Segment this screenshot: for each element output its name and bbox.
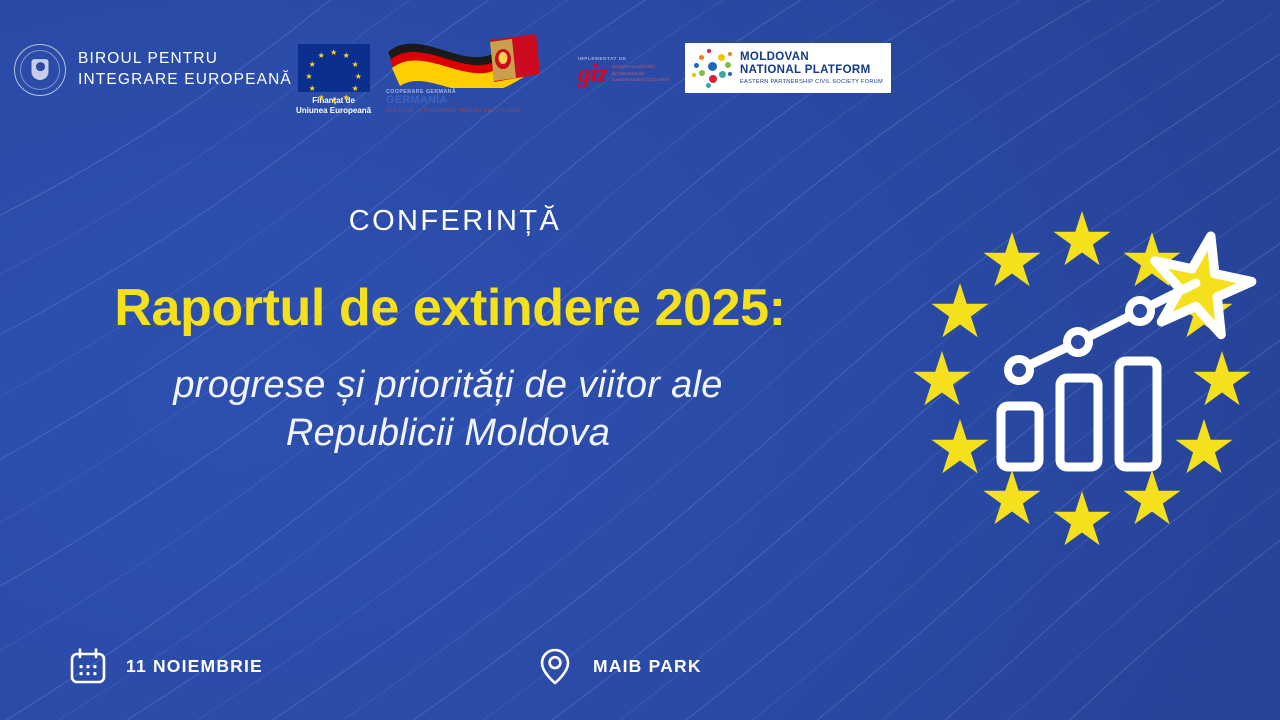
giz-wordmark: giz: [578, 64, 607, 84]
logo-eu-funding[interactable]: ★ ★ ★ ★ ★ ★ ★ ★ ★ ★ ★ ★ Finanțat de Uniu…: [296, 44, 371, 116]
logo-german-moldovan-cooperation[interactable]: COOPERARE GERMANĂ GERMANIA MOLDOVA · COO…: [386, 30, 546, 114]
hero-block: CONFERINȚĂ Raportul de extindere 2025: p…: [0, 205, 880, 458]
moldova-state-seal-icon: [14, 44, 66, 96]
german-moldovan-ribbon-icon: [386, 30, 546, 88]
logo-biroul-pentru-integrare-europeana[interactable]: BIROUL PENTRU INTEGRARE EUROPEANĂ: [14, 44, 292, 96]
page-subtitle: progrese și priorități de viitor ale Rep…: [0, 362, 880, 458]
giz-line-3: Zusammenarbeit (GIZ) GmbH: [612, 77, 669, 82]
map-pin-icon: [535, 646, 575, 686]
conference-banner: BIROUL PENTRU INTEGRARE EUROPEANĂ ★ ★ ★ …: [0, 0, 1280, 720]
logo-giz[interactable]: IMPLEMENTAT DE giz Deutsche Gesellschaft…: [578, 56, 669, 84]
biroul-line-1: BIROUL PENTRU: [78, 49, 292, 70]
ger-sub-3: MOLDOVA · COOPERARE PENTRU DEZVOLTARE: [386, 108, 521, 114]
event-date: 11 NOIEMBRIE: [68, 646, 263, 686]
mnp-line-3: EASTERN PARTNERSHIP CIVIL SOCIETY FORUM: [740, 79, 883, 85]
eu-caption-line-2: Uniunea Europeană: [296, 106, 371, 116]
eu-stars-growth-chart-graphic: [900, 195, 1265, 560]
biroul-line-2: INTEGRARE EUROPEANĂ: [78, 70, 292, 91]
page-subtitle-line-2: Republicii Moldova: [16, 410, 880, 458]
logo-moldovan-national-platform[interactable]: MOLDOVAN NATIONAL PLATFORM EASTERN PARTN…: [685, 43, 891, 93]
conference-kicker: CONFERINȚĂ: [0, 205, 880, 238]
page-title: Raportul de extindere 2025:: [0, 278, 880, 338]
giz-line-1: Deutsche Gesellschaft: [612, 64, 669, 69]
mnp-line-1: MOLDOVAN: [740, 51, 883, 64]
page-subtitle-line-1: progrese și priorități de viitor ale: [16, 362, 880, 410]
event-location-label: MAIB PARK: [593, 656, 702, 677]
calendar-icon: [68, 646, 108, 686]
trend-line: [1008, 283, 1196, 381]
ger-sub-2: GERMANIA: [386, 95, 448, 107]
mnp-line-2: NATIONAL PLATFORM: [740, 64, 883, 77]
moldovan-national-platform-icon: [691, 48, 735, 88]
giz-line-2: für Internationale: [612, 71, 669, 76]
event-location: MAIB PARK: [535, 646, 702, 686]
eu-flag-icon: ★ ★ ★ ★ ★ ★ ★ ★ ★ ★ ★ ★: [298, 44, 370, 92]
event-date-label: 11 NOIEMBRIE: [126, 656, 263, 677]
partner-logo-strip: BIROUL PENTRU INTEGRARE EUROPEANĂ ★ ★ ★ …: [0, 0, 1280, 125]
event-details-bar: 11 NOIEMBRIE MAIB PARK: [0, 638, 1280, 694]
